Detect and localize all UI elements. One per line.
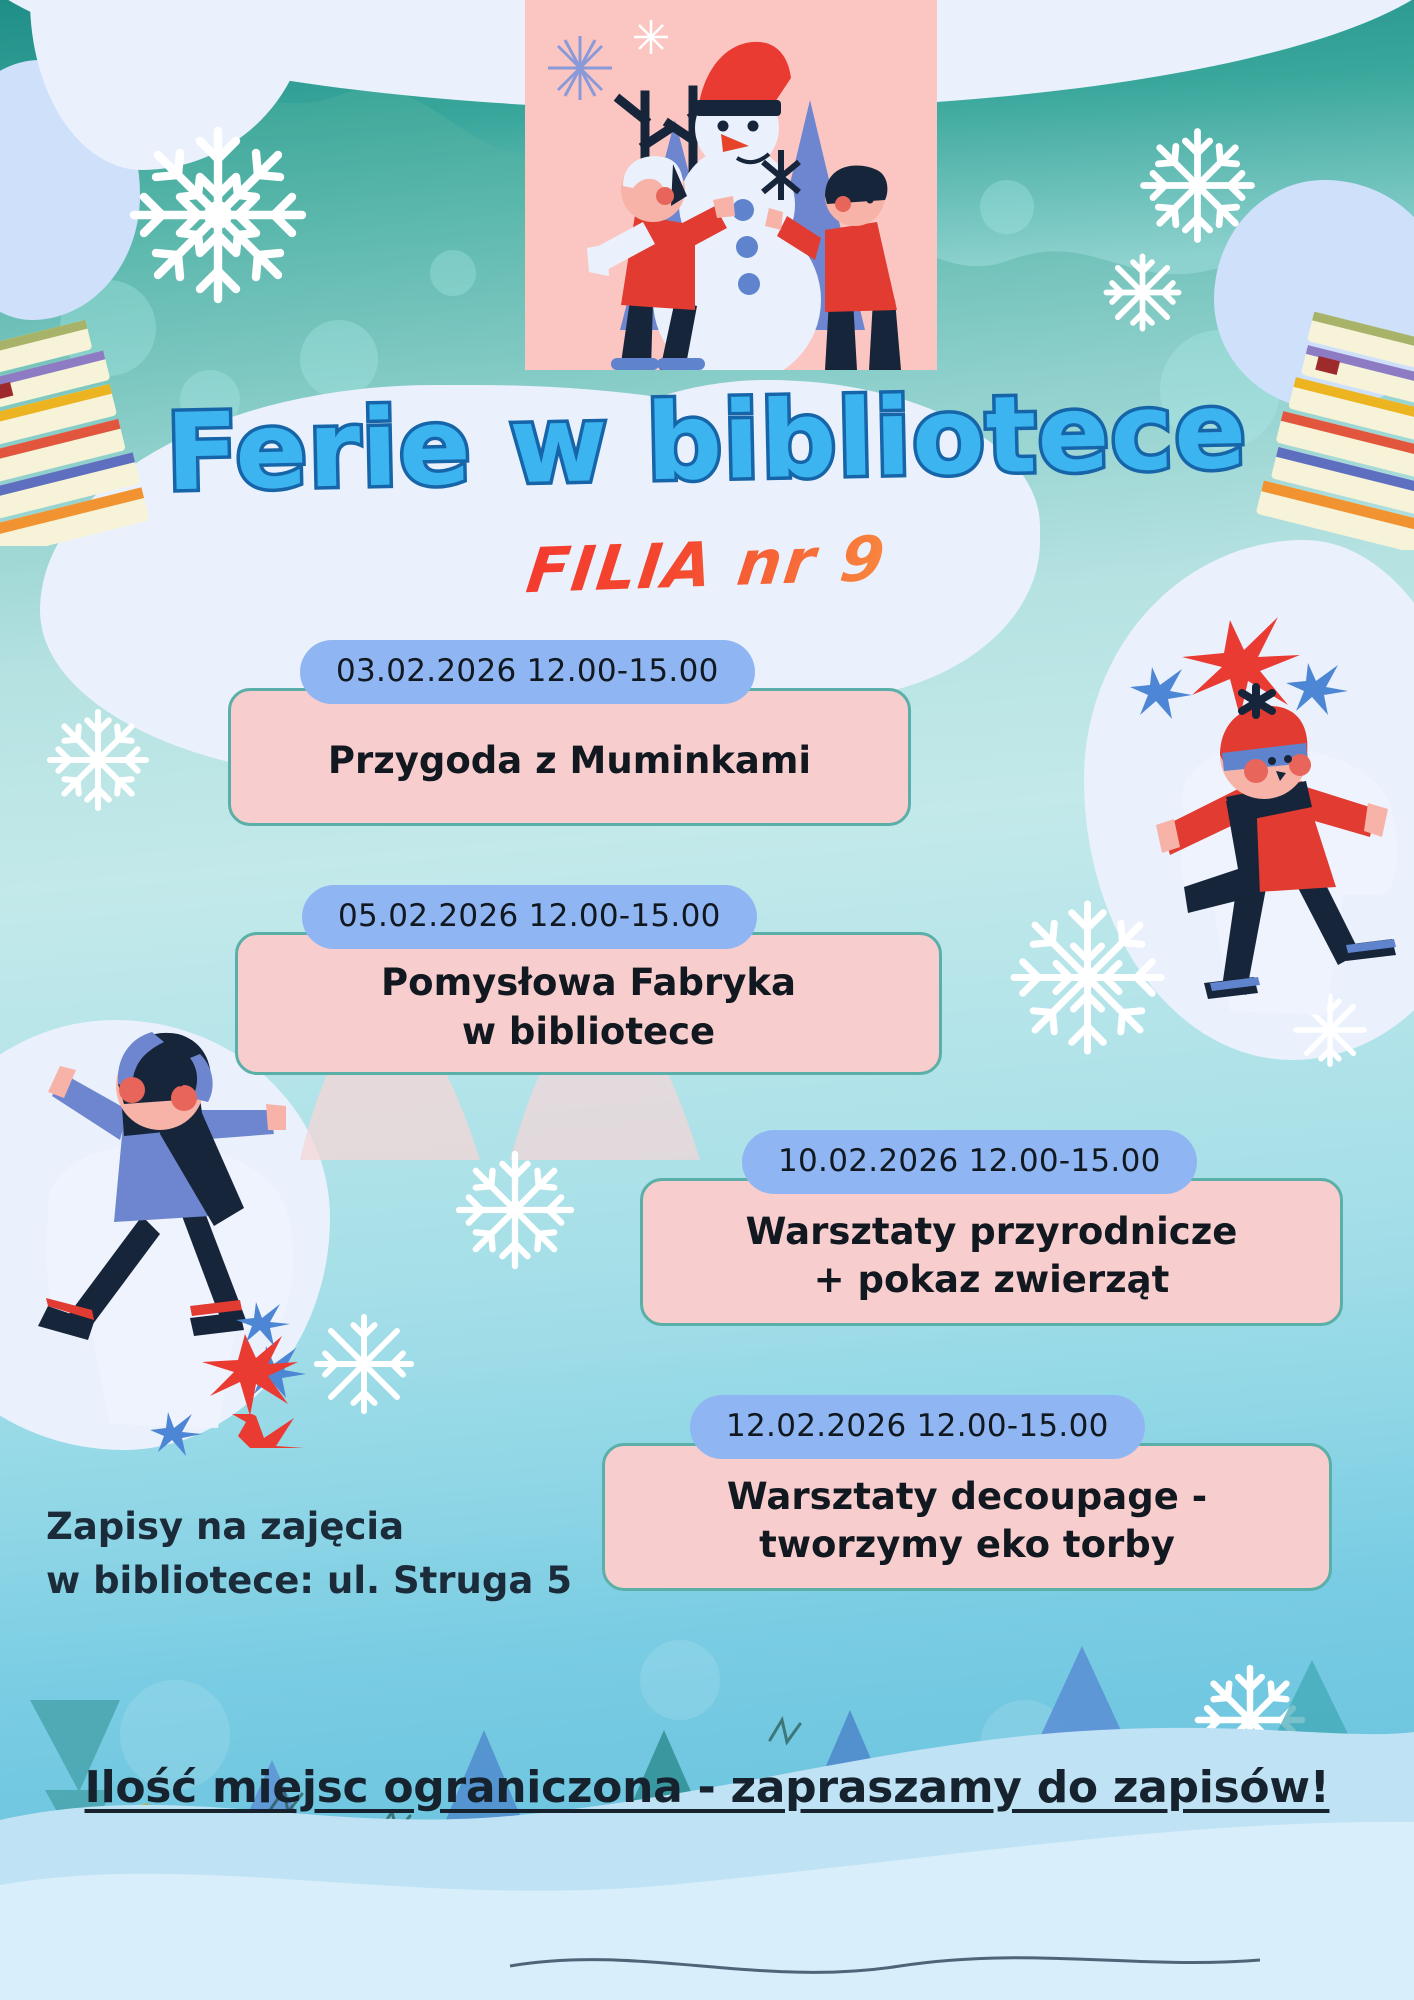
event-title-line: Warsztaty decoupage - [727, 1473, 1207, 1521]
event-datetime-pill: 12.02.2026 12.00-15.00 [690, 1395, 1145, 1459]
poster-canvas: Ferie w bibliotece FILIA nr 9 03.02.2026… [0, 0, 1414, 2000]
snowflake-icon [1095, 245, 1190, 340]
event-title-line: Pomysłowa Fabryka [381, 959, 796, 1007]
snow-angel-child-red-icon [1130, 595, 1410, 1025]
bokeh-dot [300, 320, 378, 398]
snowflake-icon [305, 1305, 423, 1423]
snowman-icon [525, 0, 937, 370]
event-title-line: tworzymy eko torby [727, 1521, 1207, 1569]
banner-text: Ilość miejsc ograniczona - zapraszamy do… [85, 1762, 1330, 1813]
star-icon [150, 1300, 320, 1480]
bokeh-dot [980, 180, 1034, 234]
event-datetime-pill: 10.02.2026 12.00-15.00 [742, 1130, 1197, 1194]
banner-notice: Ilość miejsc ograniczona - zapraszamy do… [0, 1762, 1414, 1813]
event-datetime-pill: 05.02.2026 12.00-15.00 [302, 885, 757, 949]
branch-subtitle: FILIA nr 9 [523, 522, 891, 607]
snowman-illustration-panel [525, 0, 937, 370]
snowflake-icon [1130, 118, 1265, 253]
event-title: Pomysłowa Fabryka w bibliotece [235, 932, 942, 1075]
event-title: Warsztaty przyrodnicze + pokaz zwierząt [640, 1178, 1343, 1326]
registration-info-line1: Zapisy na zajęcia [46, 1500, 616, 1554]
snowflake-icon [445, 1140, 585, 1280]
snow-mound [0, 1670, 1414, 2000]
subtitle-container: FILIA nr 9 [0, 528, 1414, 601]
snowflake-icon [118, 115, 318, 315]
event-title: Warsztaty decoupage - tworzymy eko torby [602, 1443, 1332, 1591]
book-stack-icon [0, 316, 182, 546]
event-title: Przygoda z Muminkami [228, 688, 911, 826]
event-datetime-pill: 03.02.2026 12.00-15.00 [300, 640, 755, 704]
bokeh-dot [430, 250, 476, 296]
event-title-line: w bibliotece [381, 1008, 796, 1056]
snowflake-icon [38, 700, 158, 820]
event-title-line: Warsztaty przyrodnicze [746, 1208, 1238, 1256]
event-title-line: Przygoda z Muminkami [328, 737, 811, 785]
event-title-line: + pokaz zwierząt [746, 1256, 1238, 1304]
book-stack-icon [1226, 310, 1414, 550]
